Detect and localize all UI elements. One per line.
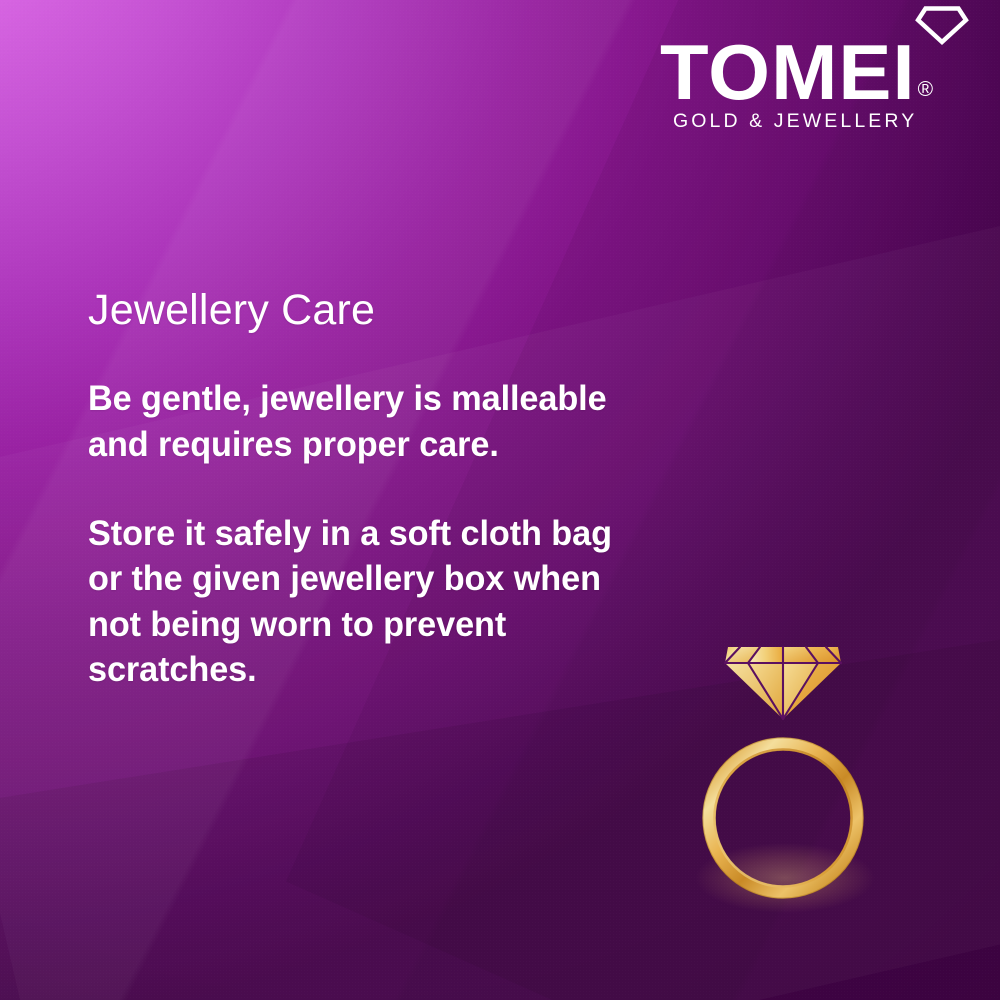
- gold-diamond-ring-illustration: [688, 628, 878, 918]
- brand-wordmark: TOMEI: [660, 39, 916, 106]
- logo-wordmark-row: TOMEI ®: [660, 32, 990, 106]
- care-paragraph-2: Store it safely in a soft cloth bag or t…: [88, 511, 686, 693]
- diamond-gem: [725, 647, 841, 719]
- page-title: Jewellery Care: [88, 286, 708, 334]
- ring-band: [703, 738, 863, 898]
- tomei-logo[interactable]: TOMEI ® GOLD & JEWELLERY: [660, 2, 990, 138]
- registered-trademark-icon: ®: [918, 79, 933, 100]
- brand-tagline: GOLD & JEWELLERY: [673, 110, 993, 133]
- jewellery-care-card: TOMEI ® GOLD & JEWELLERY Jewellery Care …: [0, 0, 1000, 1000]
- care-paragraph-1: Be gentle, jewellery is malleable and re…: [88, 376, 686, 467]
- care-copy-block: Jewellery Care Be gentle, jewellery is m…: [88, 286, 708, 693]
